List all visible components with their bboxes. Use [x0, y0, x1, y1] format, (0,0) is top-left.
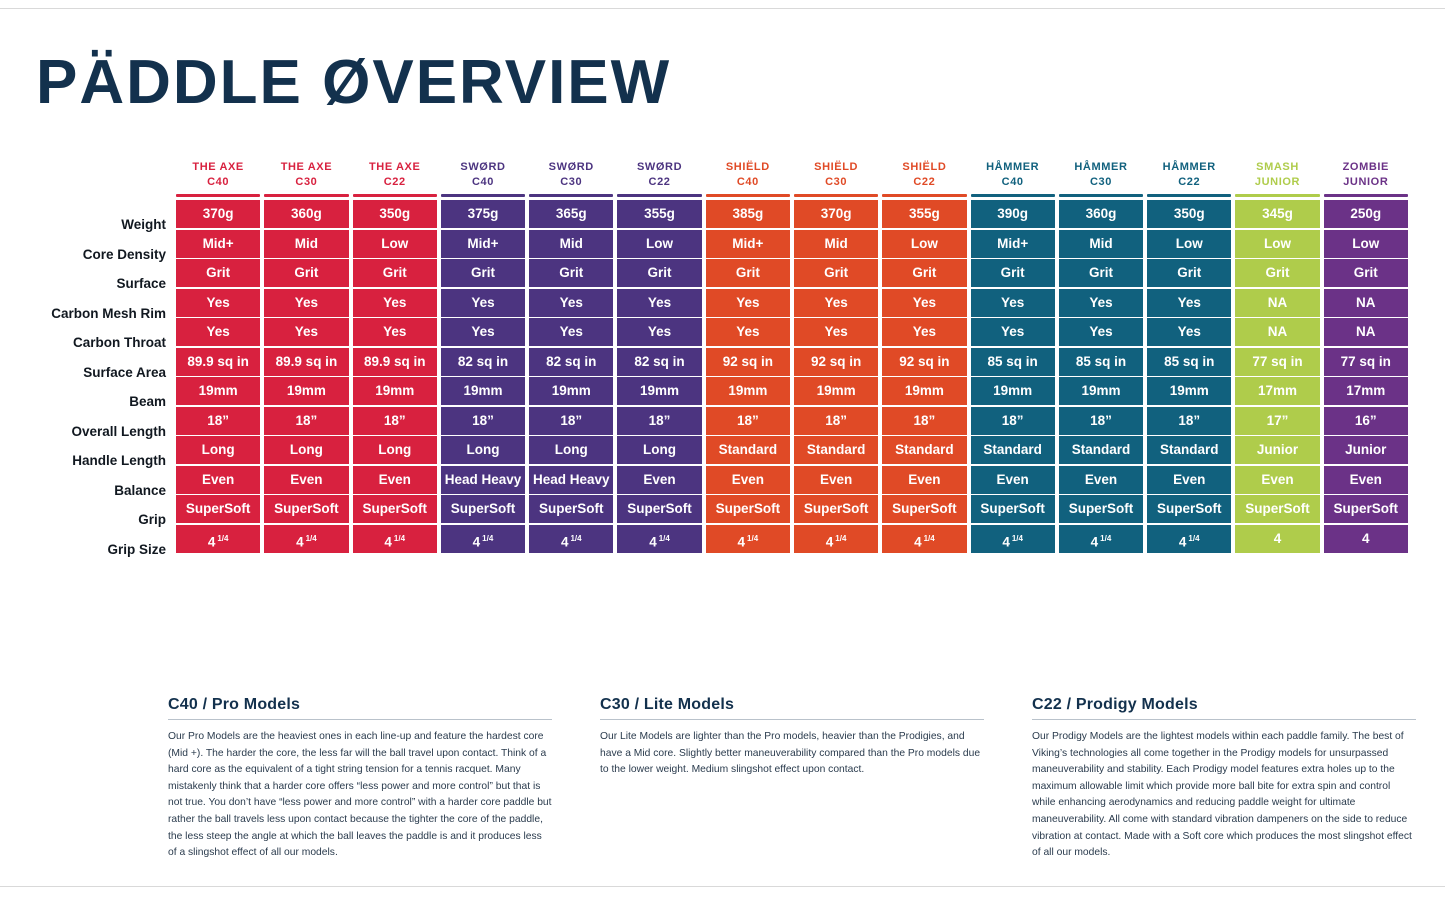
spec-cell: 19mm: [706, 377, 790, 405]
spec-cell: Low: [617, 230, 701, 258]
spec-cell: Yes: [617, 318, 701, 346]
spec-cell: Low: [353, 230, 437, 258]
spec-cell: 370g: [176, 200, 260, 228]
spec-cell: 19mm: [176, 377, 260, 405]
spec-cell: Yes: [441, 318, 525, 346]
spec-cell: Even: [706, 466, 790, 494]
spec-cell: Junior: [1324, 436, 1408, 464]
paddle-column[interactable]: HÅMMERC30360gMidGritYesYes85 sq in19mm18…: [1059, 158, 1143, 554]
spec-cell: Low: [882, 230, 966, 258]
paddle-column[interactable]: THE AXEC30360gMidGritYesYes89.9 sq in19m…: [264, 158, 348, 554]
spec-cell: NA: [1235, 318, 1319, 346]
paddle-column[interactable]: THE AXEC40370gMid+GritYesYes89.9 sq in19…: [176, 158, 260, 554]
column-header-model: JUNIOR: [1324, 175, 1408, 190]
grip-size-value: 4: [1179, 534, 1187, 549]
column-header-model: C40: [971, 175, 1055, 190]
grip-size-fraction: 1/4: [306, 534, 317, 543]
column-header: SHIËLDC22: [882, 158, 966, 194]
spec-cell: 19mm: [353, 377, 437, 405]
spec-cell: 360g: [264, 200, 348, 228]
column-header-name: THE AXE: [264, 160, 348, 175]
paddle-column[interactable]: ZOMBIEJUNIOR250gLowGritNANA77 sq in17mm1…: [1324, 158, 1408, 554]
spec-cell: 19mm: [794, 377, 878, 405]
spec-cell: SuperSoft: [882, 495, 966, 523]
spec-cell: 77 sq in: [1235, 348, 1319, 376]
column-header-name: THE AXE: [176, 160, 260, 175]
spec-cell: 345g: [1235, 200, 1319, 228]
spec-cell: Mid: [1059, 230, 1143, 258]
grip-size-value: 4: [384, 534, 392, 549]
spec-cell: 41/4: [1147, 525, 1231, 553]
spec-cell: Grit: [706, 259, 790, 287]
spec-cell: 18”: [971, 407, 1055, 435]
spec-cell: 18”: [176, 407, 260, 435]
row-label-column: WeightCore DensitySurfaceCarbon Mesh Rim…: [36, 158, 176, 564]
spec-cell: 41/4: [264, 525, 348, 553]
spec-cell: Yes: [353, 318, 437, 346]
spec-cell: Head Heavy: [529, 466, 613, 494]
spec-cell: Low: [1147, 230, 1231, 258]
spec-cell: Yes: [882, 318, 966, 346]
column-accent-rule: [971, 194, 1055, 197]
spec-cell: NA: [1324, 318, 1408, 346]
row-label: Balance: [36, 476, 176, 506]
column-header-name: HÅMMER: [1059, 160, 1143, 175]
spec-cell: Even: [794, 466, 878, 494]
spec-cell: Yes: [1059, 318, 1143, 346]
column-header-name: SHIËLD: [706, 160, 790, 175]
row-label: Weight: [36, 210, 176, 240]
spec-cell: 41/4: [617, 525, 701, 553]
spec-cell: Grit: [1235, 259, 1319, 287]
spec-cell: Grit: [882, 259, 966, 287]
spec-cell: Low: [1324, 230, 1408, 258]
spec-cell: 41/4: [176, 525, 260, 553]
column-accent-rule: [529, 194, 613, 197]
spec-cell: Even: [1059, 466, 1143, 494]
row-label: Handle Length: [36, 446, 176, 476]
spec-cell: 41/4: [441, 525, 525, 553]
spec-cell: Grit: [1059, 259, 1143, 287]
spec-cell: 77 sq in: [1324, 348, 1408, 376]
spec-cell: 89.9 sq in: [176, 348, 260, 376]
spec-cell: 18”: [264, 407, 348, 435]
column-accent-rule: [1324, 194, 1408, 197]
spec-cell: Yes: [176, 318, 260, 346]
grip-size-value: 4: [473, 534, 481, 549]
column-accent-rule: [441, 194, 525, 197]
spec-cell: Yes: [1059, 289, 1143, 317]
row-label: Beam: [36, 387, 176, 417]
note-block: C22 / Prodigy ModelsOur Prodigy Models a…: [1032, 696, 1416, 862]
spec-cell: Yes: [617, 289, 701, 317]
spec-cell: 375g: [441, 200, 525, 228]
spec-cell: 92 sq in: [706, 348, 790, 376]
note-title: C40 / Pro Models: [168, 696, 552, 714]
spec-cell: NA: [1235, 289, 1319, 317]
row-label: Surface Area: [36, 358, 176, 388]
column-accent-rule: [264, 194, 348, 197]
spec-cell: 19mm: [617, 377, 701, 405]
spec-cell: 92 sq in: [882, 348, 966, 376]
spec-cell: SuperSoft: [1147, 495, 1231, 523]
column-header-name: SWØRD: [529, 160, 613, 175]
column-header-name: THE AXE: [353, 160, 437, 175]
spec-cell: Mid: [264, 230, 348, 258]
row-label: Carbon Mesh Rim: [36, 299, 176, 329]
spec-cell: Grit: [1147, 259, 1231, 287]
spec-cell: 19mm: [264, 377, 348, 405]
note-title: C22 / Prodigy Models: [1032, 696, 1416, 714]
spec-cell: SuperSoft: [264, 495, 348, 523]
paddle-column[interactable]: SHIËLDC30370gMidGritYesYes92 sq in19mm18…: [794, 158, 878, 554]
spec-cell: 82 sq in: [529, 348, 613, 376]
grip-size-fraction: 1/4: [1100, 534, 1111, 543]
spec-cell: Even: [1235, 466, 1319, 494]
grip-size-fraction: 1/4: [659, 534, 670, 543]
row-label: Surface: [36, 269, 176, 299]
column-header-model: C22: [617, 175, 701, 190]
spec-cell: Mid: [529, 230, 613, 258]
column-accent-rule: [706, 194, 790, 197]
spec-cell: Even: [353, 466, 437, 494]
spec-cell: Yes: [971, 318, 1055, 346]
spec-cell: 18”: [1147, 407, 1231, 435]
spec-cell: SuperSoft: [706, 495, 790, 523]
spec-cell: Even: [176, 466, 260, 494]
spec-cell: Standard: [706, 436, 790, 464]
note-body: Our Pro Models are the heaviest ones in …: [168, 729, 552, 862]
spec-cell: 19mm: [1147, 377, 1231, 405]
spec-cell: Even: [617, 466, 701, 494]
column-accent-rule: [1147, 194, 1231, 197]
grip-size-value: 4: [649, 534, 657, 549]
grip-size-fraction: 1/4: [1188, 534, 1199, 543]
row-label: Overall Length: [36, 417, 176, 447]
spec-cell: Long: [529, 436, 613, 464]
column-header: SWØRDC40: [441, 158, 525, 194]
note-divider: [168, 719, 552, 720]
spec-cell: Grit: [1324, 259, 1408, 287]
column-header-model: C22: [882, 175, 966, 190]
spec-cell: 41/4: [794, 525, 878, 553]
spec-cell: 19mm: [441, 377, 525, 405]
spec-cell: SuperSoft: [794, 495, 878, 523]
page-title: PÄDDLE ØVERVIEW: [36, 52, 671, 114]
spec-cell: 41/4: [971, 525, 1055, 553]
spec-cell: Grit: [617, 259, 701, 287]
column-header-name: SWØRD: [617, 160, 701, 175]
spec-cell: 82 sq in: [441, 348, 525, 376]
spec-cell: Long: [353, 436, 437, 464]
spec-cell: 41/4: [1059, 525, 1143, 553]
bottom-divider: [0, 886, 1445, 887]
spec-cell: Standard: [794, 436, 878, 464]
spec-cell: SuperSoft: [1324, 495, 1408, 523]
spec-cell: 355g: [882, 200, 966, 228]
spec-cell: 350g: [353, 200, 437, 228]
column-accent-rule: [617, 194, 701, 197]
column-header-model: C22: [353, 175, 437, 190]
note-body: Our Prodigy Models are the lightest mode…: [1032, 729, 1416, 862]
spec-cell: Yes: [264, 318, 348, 346]
column-header: SWØRDC22: [617, 158, 701, 194]
column-header-model: C40: [441, 175, 525, 190]
grip-size-fraction: 1/4: [482, 534, 493, 543]
column-header-name: SWØRD: [441, 160, 525, 175]
spec-cell: Even: [1147, 466, 1231, 494]
paddle-column[interactable]: SWØRDC40375gMid+GritYesYes82 sq in19mm18…: [441, 158, 525, 554]
top-divider: [0, 8, 1445, 9]
spec-cell: 4: [1324, 525, 1408, 553]
spec-cell: 89.9 sq in: [264, 348, 348, 376]
spec-cell: Grit: [441, 259, 525, 287]
column-header-model: C40: [706, 175, 790, 190]
spec-cell: Long: [264, 436, 348, 464]
grip-size-fraction: 1/4: [747, 534, 758, 543]
spec-cell: Standard: [1059, 436, 1143, 464]
spec-cell: Head Heavy: [441, 466, 525, 494]
model-notes: C40 / Pro ModelsOur Pro Models are the h…: [168, 696, 1416, 862]
spec-cell: 18”: [441, 407, 525, 435]
paddle-column[interactable]: SWØRDC30365gMidGritYesYes82 sq in19mm18”…: [529, 158, 613, 554]
spec-cell: 18”: [882, 407, 966, 435]
grip-size-fraction: 1/4: [217, 534, 228, 543]
column-header-model: C30: [264, 175, 348, 190]
column-header: SHIËLDC30: [794, 158, 878, 194]
spec-cell: 390g: [971, 200, 1055, 228]
spec-cell: SuperSoft: [529, 495, 613, 523]
spec-cell: Yes: [882, 289, 966, 317]
spec-cell: Yes: [706, 318, 790, 346]
paddle-spec-table: WeightCore DensitySurfaceCarbon Mesh Rim…: [36, 158, 1408, 564]
paddle-column[interactable]: SHIËLDC22355gLowGritYesYes92 sq in19mm18…: [882, 158, 966, 554]
spec-cell: 360g: [1059, 200, 1143, 228]
spec-cell: 370g: [794, 200, 878, 228]
spec-cell: NA: [1324, 289, 1408, 317]
column-header-model: C30: [529, 175, 613, 190]
grip-size-fraction: 1/4: [570, 534, 581, 543]
paddle-column[interactable]: SHIËLDC40385gMid+GritYesYes92 sq in19mm1…: [706, 158, 790, 554]
spec-cell: 19mm: [971, 377, 1055, 405]
spec-cell: Mid+: [971, 230, 1055, 258]
spec-cell: SuperSoft: [353, 495, 437, 523]
row-label: Core Density: [36, 240, 176, 270]
note-block: C40 / Pro ModelsOur Pro Models are the h…: [168, 696, 552, 862]
spec-cell: Even: [882, 466, 966, 494]
column-header: THE AXEC40: [176, 158, 260, 194]
spec-cell: 4: [1235, 525, 1319, 553]
column-header-name: SHIËLD: [794, 160, 878, 175]
grip-size-value: 4: [1002, 534, 1010, 549]
spec-cell: Yes: [1147, 318, 1231, 346]
spec-cell: SuperSoft: [617, 495, 701, 523]
paddle-column[interactable]: HÅMMERC40390gMid+GritYesYes85 sq in19mm1…: [971, 158, 1055, 554]
spec-cell: 355g: [617, 200, 701, 228]
spec-cell: Yes: [441, 289, 525, 317]
spec-cell: Long: [176, 436, 260, 464]
grip-size-value: 4: [296, 534, 304, 549]
column-header: HÅMMERC40: [971, 158, 1055, 194]
spec-cell: Yes: [264, 289, 348, 317]
spec-cell: Grit: [529, 259, 613, 287]
spec-cell: 85 sq in: [1147, 348, 1231, 376]
column-header: THE AXEC30: [264, 158, 348, 194]
spec-cell: 41/4: [706, 525, 790, 553]
spec-cell: 17mm: [1324, 377, 1408, 405]
grip-size-value: 4: [1091, 534, 1099, 549]
spec-cell: Mid+: [176, 230, 260, 258]
spec-cell: 18”: [794, 407, 878, 435]
spec-cell: Yes: [971, 289, 1055, 317]
spec-cell: Mid: [794, 230, 878, 258]
column-header-name: SHIËLD: [882, 160, 966, 175]
paddle-columns: THE AXEC40370gMid+GritYesYes89.9 sq in19…: [176, 158, 1408, 554]
spec-cell: Standard: [1147, 436, 1231, 464]
grip-size-fraction: 1/4: [1012, 534, 1023, 543]
column-accent-rule: [353, 194, 437, 197]
spec-cell: 17”: [1235, 407, 1319, 435]
spec-cell: 85 sq in: [1059, 348, 1143, 376]
spec-cell: Mid+: [706, 230, 790, 258]
column-header: HÅMMERC30: [1059, 158, 1143, 194]
column-header-model: C40: [176, 175, 260, 190]
spec-cell: 41/4: [353, 525, 437, 553]
grip-size-value: 4: [208, 534, 216, 549]
column-header: THE AXEC22: [353, 158, 437, 194]
column-header-name: HÅMMER: [1147, 160, 1231, 175]
grip-size-fraction: 1/4: [924, 534, 935, 543]
column-header-model: JUNIOR: [1235, 175, 1319, 190]
spec-cell: 19mm: [529, 377, 613, 405]
spec-cell: Low: [1235, 230, 1319, 258]
row-label: Grip Size: [36, 535, 176, 565]
spec-cell: Grit: [971, 259, 1055, 287]
spec-cell: Even: [1324, 466, 1408, 494]
spec-cell: Yes: [706, 289, 790, 317]
column-header-name: SMASH: [1235, 160, 1319, 175]
note-divider: [600, 719, 984, 720]
spec-cell: 19mm: [1059, 377, 1143, 405]
spec-cell: Yes: [176, 289, 260, 317]
spec-cell: Yes: [529, 289, 613, 317]
spec-cell: Yes: [794, 289, 878, 317]
grip-size-fraction: 1/4: [394, 534, 405, 543]
spec-cell: 18”: [353, 407, 437, 435]
note-title: C30 / Lite Models: [600, 696, 984, 714]
grip-size-value: 4: [826, 534, 834, 549]
spec-cell: Standard: [882, 436, 966, 464]
spec-cell: Yes: [353, 289, 437, 317]
spec-cell: Junior: [1235, 436, 1319, 464]
column-header-model: C30: [1059, 175, 1143, 190]
column-accent-rule: [794, 194, 878, 197]
spec-cell: 92 sq in: [794, 348, 878, 376]
spec-cell: SuperSoft: [1235, 495, 1319, 523]
spec-cell: SuperSoft: [1059, 495, 1143, 523]
spec-cell: Even: [264, 466, 348, 494]
column-header-model: C30: [794, 175, 878, 190]
spec-cell: 350g: [1147, 200, 1231, 228]
spec-cell: 18”: [529, 407, 613, 435]
spec-cell: 385g: [706, 200, 790, 228]
row-label: Grip: [36, 505, 176, 535]
column-header: SMASHJUNIOR: [1235, 158, 1319, 194]
spec-cell: 18”: [617, 407, 701, 435]
grip-size-value: 4: [738, 534, 746, 549]
paddle-column[interactable]: THE AXEC22350gLowGritYesYes89.9 sq in19m…: [353, 158, 437, 554]
spec-cell: SuperSoft: [971, 495, 1055, 523]
spec-cell: Long: [441, 436, 525, 464]
column-accent-rule: [882, 194, 966, 197]
spec-cell: SuperSoft: [441, 495, 525, 523]
column-header: HÅMMERC22: [1147, 158, 1231, 194]
spec-cell: Standard: [971, 436, 1055, 464]
spec-cell: SuperSoft: [176, 495, 260, 523]
spec-cell: Grit: [264, 259, 348, 287]
spec-cell: Yes: [794, 318, 878, 346]
column-header: SWØRDC30: [529, 158, 613, 194]
paddle-column[interactable]: SMASHJUNIOR345gLowGritNANA77 sq in17mm17…: [1235, 158, 1319, 554]
spec-cell: Even: [971, 466, 1055, 494]
spec-cell: Yes: [529, 318, 613, 346]
spec-cell: 17mm: [1235, 377, 1319, 405]
note-divider: [1032, 719, 1416, 720]
spec-cell: 16”: [1324, 407, 1408, 435]
spec-cell: 365g: [529, 200, 613, 228]
note-body: Our Lite Models are lighter than the Pro…: [600, 729, 984, 779]
column-header: SHIËLDC40: [706, 158, 790, 194]
spec-cell: Grit: [353, 259, 437, 287]
column-accent-rule: [1059, 194, 1143, 197]
grip-size-fraction: 1/4: [835, 534, 846, 543]
column-header-name: ZOMBIE: [1324, 160, 1408, 175]
spec-cell: 18”: [706, 407, 790, 435]
spec-cell: Long: [617, 436, 701, 464]
spec-cell: Grit: [794, 259, 878, 287]
spec-cell: 85 sq in: [971, 348, 1055, 376]
grip-size-value: 4: [914, 534, 922, 549]
spec-cell: 89.9 sq in: [353, 348, 437, 376]
column-header-name: HÅMMER: [971, 160, 1055, 175]
spec-cell: 82 sq in: [617, 348, 701, 376]
column-accent-rule: [176, 194, 260, 197]
column-accent-rule: [1235, 194, 1319, 197]
paddle-column[interactable]: HÅMMERC22350gLowGritYesYes85 sq in19mm18…: [1147, 158, 1231, 554]
spec-cell: 250g: [1324, 200, 1408, 228]
spec-cell: 41/4: [529, 525, 613, 553]
spec-cell: Grit: [176, 259, 260, 287]
paddle-column[interactable]: SWØRDC22355gLowGritYesYes82 sq in19mm18”…: [617, 158, 701, 554]
column-header: ZOMBIEJUNIOR: [1324, 158, 1408, 194]
column-header-model: C22: [1147, 175, 1231, 190]
spec-cell: 41/4: [882, 525, 966, 553]
row-label: Carbon Throat: [36, 328, 176, 358]
spec-cell: Mid+: [441, 230, 525, 258]
spec-cell: 19mm: [882, 377, 966, 405]
spec-cell: Yes: [1147, 289, 1231, 317]
spec-cell: 18”: [1059, 407, 1143, 435]
grip-size-value: 4: [561, 534, 569, 549]
note-block: C30 / Lite ModelsOur Lite Models are lig…: [600, 696, 984, 779]
